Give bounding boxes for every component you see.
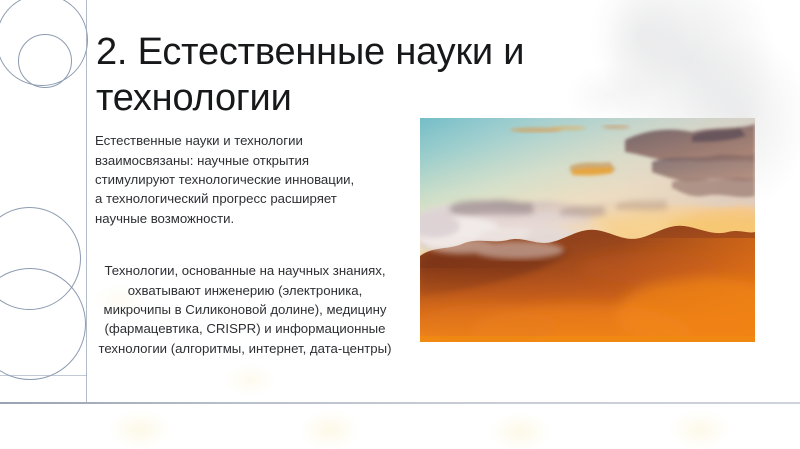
slide-canvas: 2. Естественные науки и технологии Естес… (0, 0, 800, 449)
circle-outline-arc-upper-icon (0, 207, 81, 310)
body-paragraph-primary: Естественные науки и технологии взаимосв… (95, 131, 363, 228)
page-title: 2. Естественные науки и технологии (96, 29, 716, 121)
sunset-illustration-icon (420, 118, 755, 342)
circle-outline-large-icon (0, 0, 88, 86)
horizontal-divider (0, 402, 800, 404)
horizontal-divider-short (0, 375, 87, 376)
slide-image-sunset (420, 118, 755, 342)
circle-outline-arc-lower-icon (0, 268, 86, 380)
body-paragraph-secondary: Технологии, основанные на научных знания… (95, 261, 395, 358)
circle-outline-small-icon (18, 34, 72, 88)
vertical-divider (86, 0, 87, 402)
